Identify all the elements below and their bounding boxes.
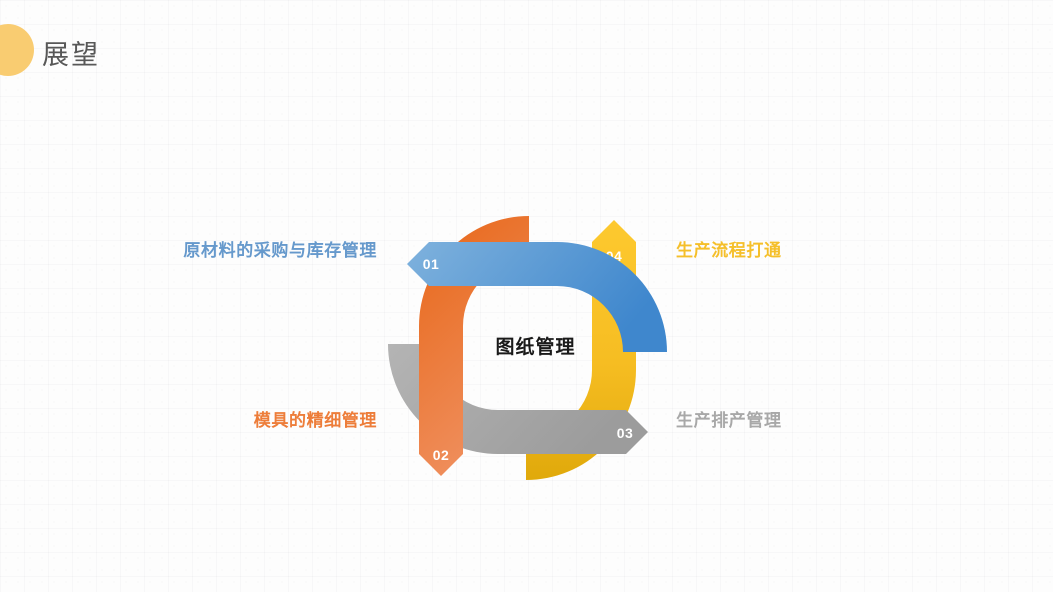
segment-caption-01: 原材料的采购与库存管理	[183, 236, 377, 261]
accent-circle-icon	[0, 24, 34, 76]
slide-canvas: 展望	[0, 0, 1053, 592]
circular-process-diagram: 04 03 02 01	[385, 198, 670, 498]
page-title: 展望	[42, 38, 100, 74]
segment-number-02: 02	[433, 447, 450, 463]
segment-number-01: 01	[423, 256, 440, 272]
segment-number-03: 03	[617, 425, 634, 441]
segment-caption-03: 生产排产管理	[676, 406, 782, 431]
segment-caption-04: 生产流程打通	[676, 236, 782, 261]
segment-caption-02: 模具的精细管理	[254, 406, 377, 431]
